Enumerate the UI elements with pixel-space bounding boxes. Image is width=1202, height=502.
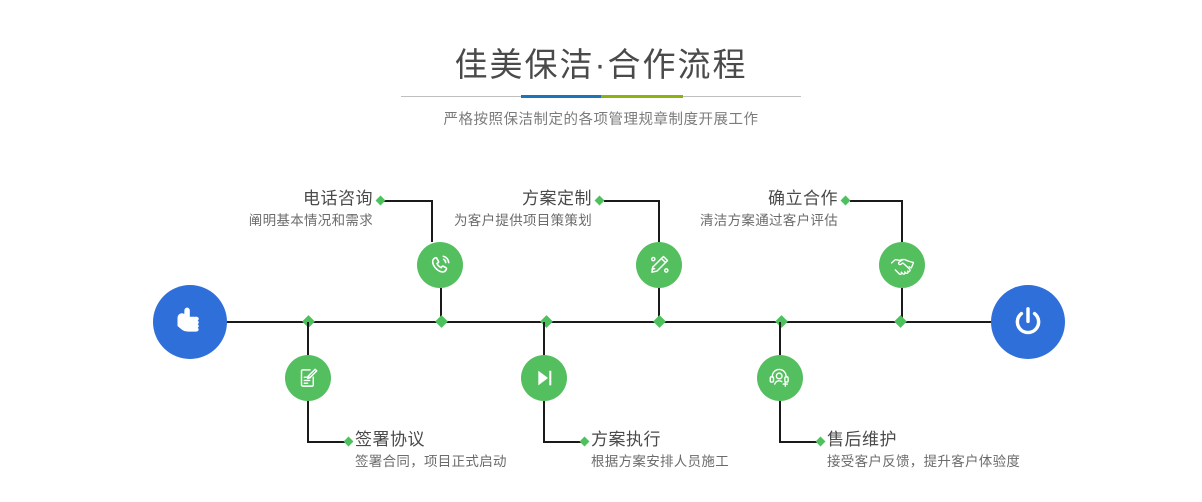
hand-pointing-right-icon xyxy=(170,302,210,342)
step-4-stem xyxy=(543,322,545,355)
timeline-end-endpoint xyxy=(991,285,1065,359)
step-2-stem xyxy=(307,322,309,355)
step-6-stem xyxy=(779,322,781,355)
step-4-icon-node xyxy=(521,355,567,401)
process-timeline: 电话咨询 阐明基本情况和需求 xyxy=(0,0,1202,502)
pencil-design-icon xyxy=(646,252,672,278)
power-icon xyxy=(1008,302,1048,342)
play-execute-icon xyxy=(531,365,557,391)
step-6-riser xyxy=(779,401,781,442)
document-sign-icon xyxy=(295,365,321,391)
step-5-label-marker xyxy=(841,196,851,206)
step-2-icon-node xyxy=(285,355,331,401)
handshake-icon xyxy=(889,252,916,279)
step-2-riser xyxy=(307,401,309,442)
step-5-desc: 清洁方案通过客户评估 xyxy=(528,210,838,231)
step-5-arm xyxy=(850,200,902,202)
step-5-icon-node xyxy=(879,242,925,288)
step-5-label: 确立合作 清洁方案通过客户评估 xyxy=(528,188,838,231)
step-6-desc: 接受客户反馈，提升客户体验度 xyxy=(827,451,1187,472)
step-3-icon-node xyxy=(636,242,682,288)
step-2-label-marker xyxy=(344,437,354,447)
step-4-riser xyxy=(543,401,545,442)
step-5-riser xyxy=(901,200,903,242)
customer-service-icon xyxy=(767,365,793,391)
step-6-label: 售后维护 接受客户反馈，提升客户体验度 xyxy=(827,429,1187,472)
axis-marker-2 xyxy=(435,315,448,328)
phone-call-icon xyxy=(427,252,453,278)
step-5-title: 确立合作 xyxy=(528,188,838,210)
axis-marker-4 xyxy=(653,315,666,328)
infographic-page: 佳美保洁·合作流程 严格按照保洁制定的各项管理规章制度开展工作 xyxy=(0,0,1202,502)
timeline-start-endpoint xyxy=(153,285,227,359)
axis-marker-6 xyxy=(894,315,907,328)
step-1-icon-node xyxy=(417,242,463,288)
step-6-title: 售后维护 xyxy=(827,429,1187,451)
axis-marker-5 xyxy=(775,315,788,328)
step-6-icon-node xyxy=(757,355,803,401)
